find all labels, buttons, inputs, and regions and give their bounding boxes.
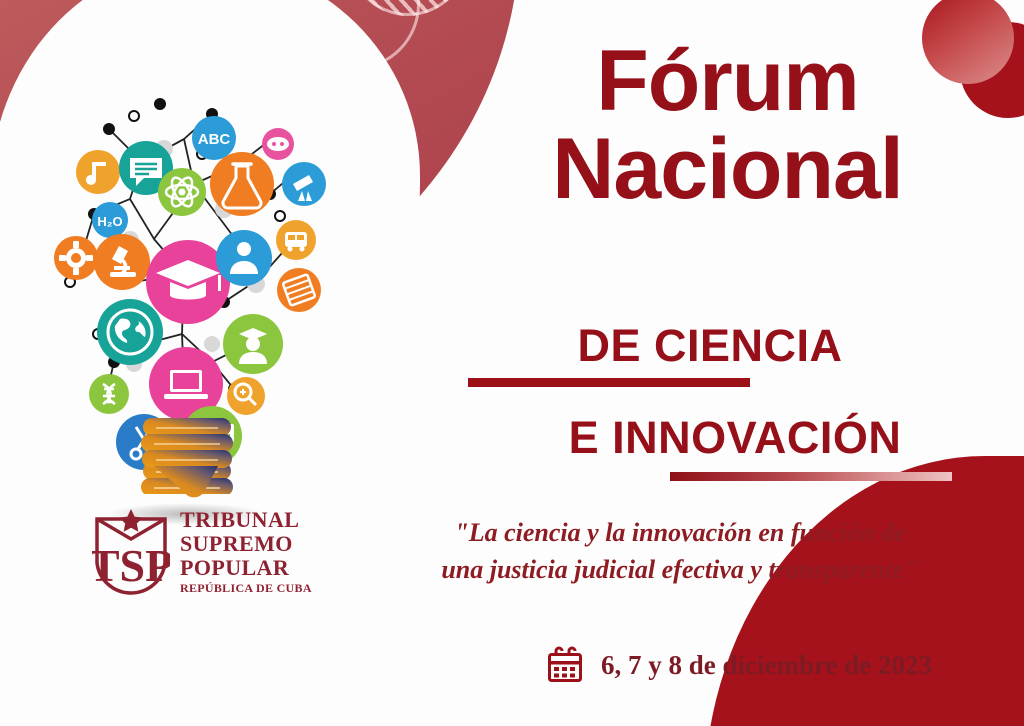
tsp-line-3: POPULAR [180, 557, 312, 579]
tsp-line-2: SUPREMO [180, 533, 312, 555]
poster-title: Fórum Nacional [455, 38, 1000, 213]
calendar-icon [545, 645, 585, 685]
svg-text:TSP: TSP [92, 540, 170, 591]
subtitle-underline-2 [670, 472, 952, 481]
event-date-text: 6, 7 y 8 de diciembre de 2023 [601, 650, 932, 681]
tagline-line-1: "La ciencia y la innovación en función d… [370, 515, 990, 552]
subtitle-line-1: DE CIENCIA [430, 320, 990, 372]
subtitle-line-2: E INNOVACIÓN [455, 412, 1015, 464]
svg-text:H₂O: H₂O [97, 214, 122, 229]
poster-tagline: "La ciencia y la innovación en función d… [370, 515, 990, 589]
subtitle-underline-1 [468, 378, 750, 387]
title-line-1: Fórum [455, 38, 1000, 126]
tsp-line-1: TRIBUNAL [180, 509, 312, 531]
lightbulb-network-illustration: ABC H₂O [34, 44, 334, 494]
tsp-logo: TSP TRIBUNAL SUPREMO POPULAR REPÚBLICA D… [92, 505, 312, 597]
title-line-2: Nacional [455, 126, 1000, 214]
tsp-logo-text: TRIBUNAL SUPREMO POPULAR REPÚBLICA DE CU… [180, 509, 312, 594]
tsp-line-4: REPÚBLICA DE CUBA [180, 582, 312, 594]
decor-red-sweep-bottom-right [704, 456, 1024, 726]
event-date-row: 6, 7 y 8 de diciembre de 2023 [545, 645, 932, 685]
tsp-shield-icon: TSP [92, 505, 170, 597]
svg-text:ABC: ABC [198, 131, 231, 148]
poster-canvas: ABC H₂O [0, 0, 1024, 726]
decor-hatched-circle-1 [348, 0, 468, 16]
tagline-line-2: una justicia judicial efectiva y transpa… [370, 552, 990, 589]
